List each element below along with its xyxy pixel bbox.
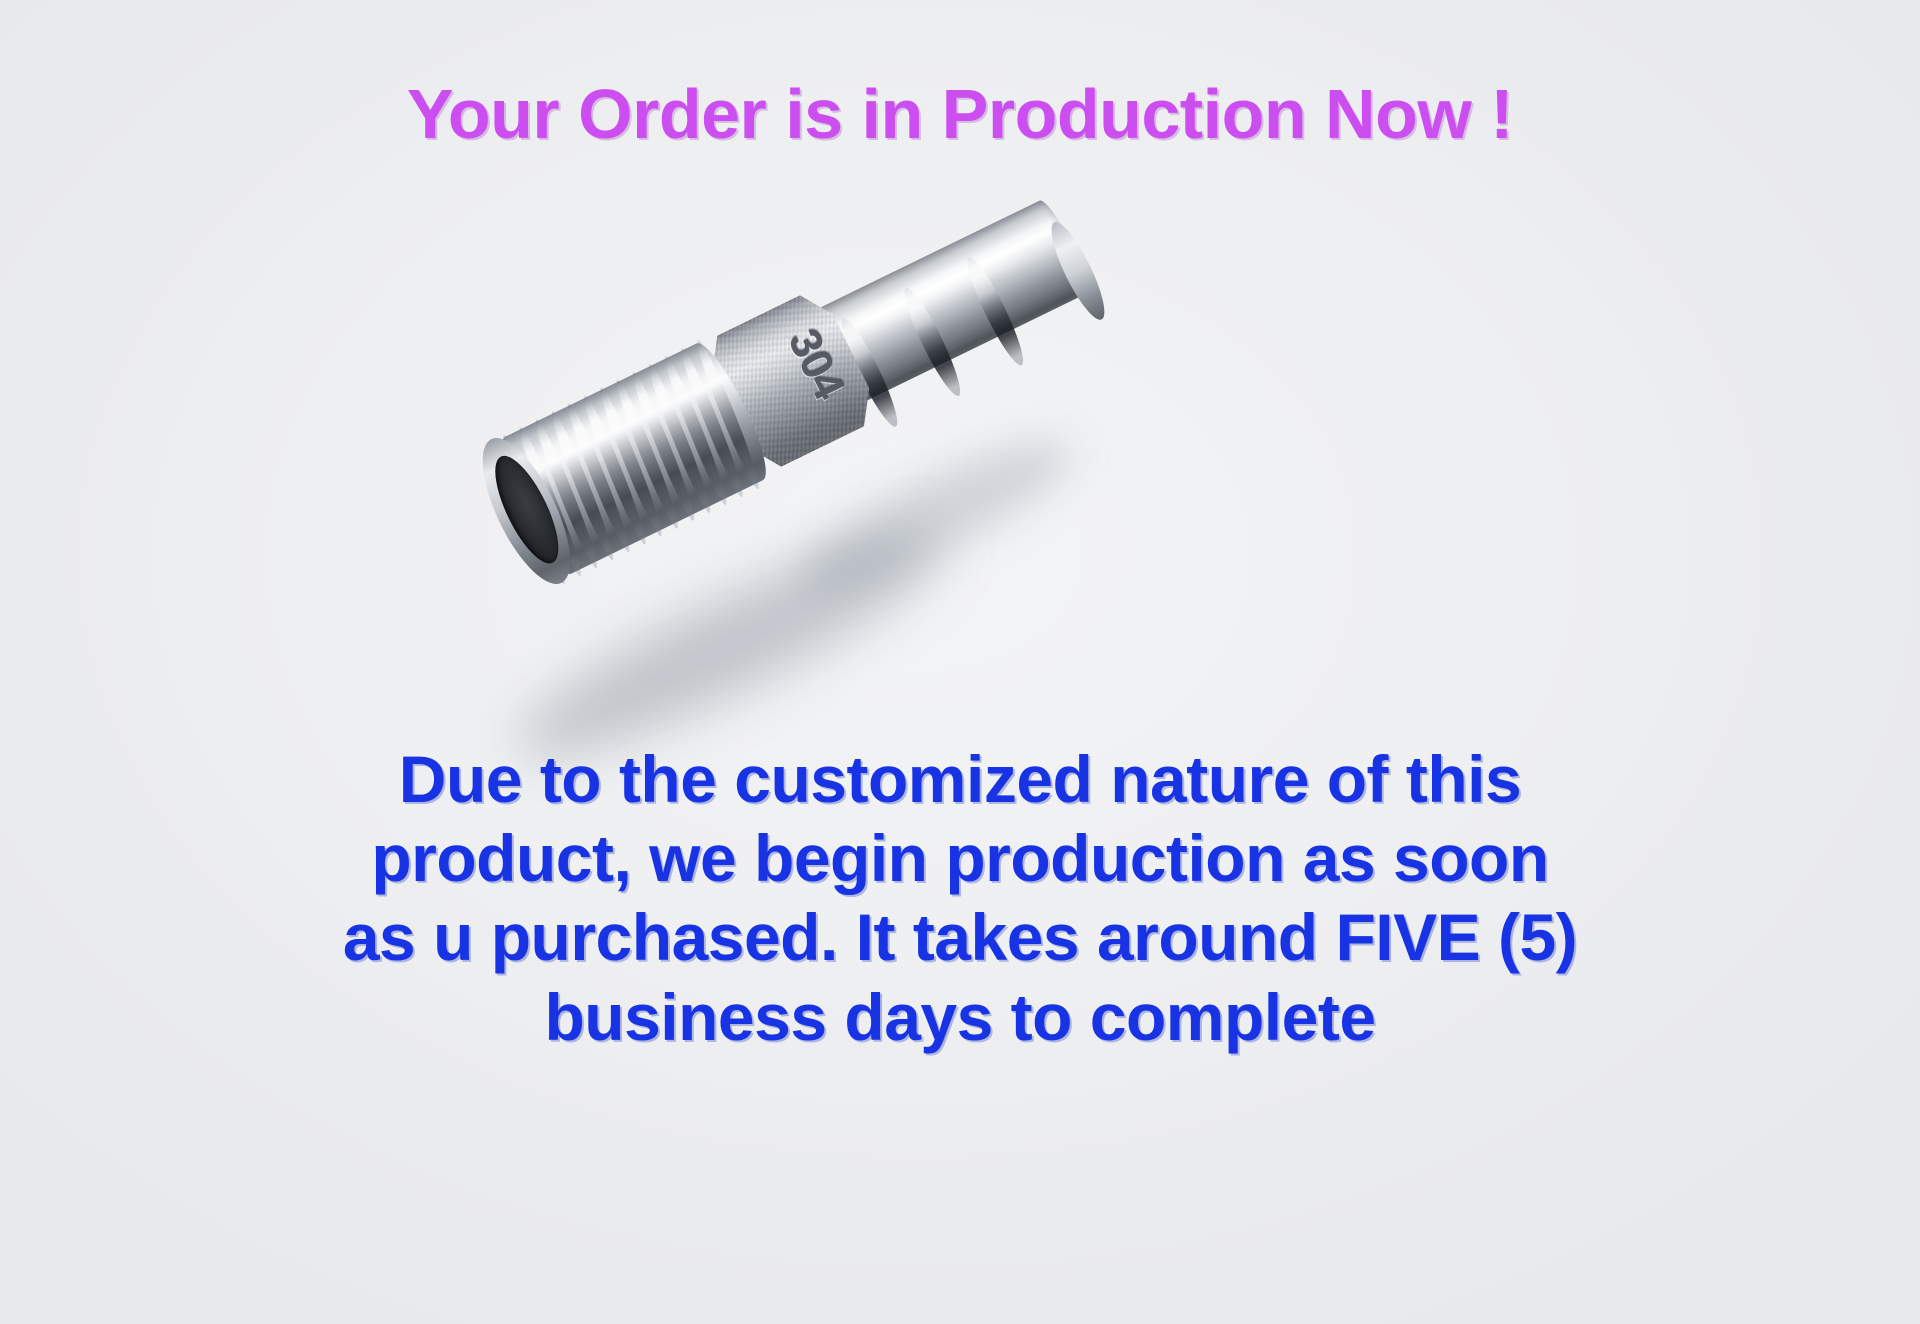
body-copy: Due to the customized nature of this pro… [0,740,1920,1057]
promo-banner: Your Order is in Production Now ! 304 [0,0,1920,1324]
copy-line: Due to the customized nature of this [0,740,1920,819]
product-image-hose-barb-fitting: 304 [455,300,1155,740]
copy-line: business days to complete [0,978,1920,1057]
fitting-body: 304 [434,167,1120,618]
page-title: Your Order is in Production Now ! [0,78,1920,152]
barb-end-cap [1043,217,1114,325]
copy-line: product, we begin production as soon [0,819,1920,898]
copy-line: as u purchased. It takes around FIVE (5) [0,898,1920,977]
